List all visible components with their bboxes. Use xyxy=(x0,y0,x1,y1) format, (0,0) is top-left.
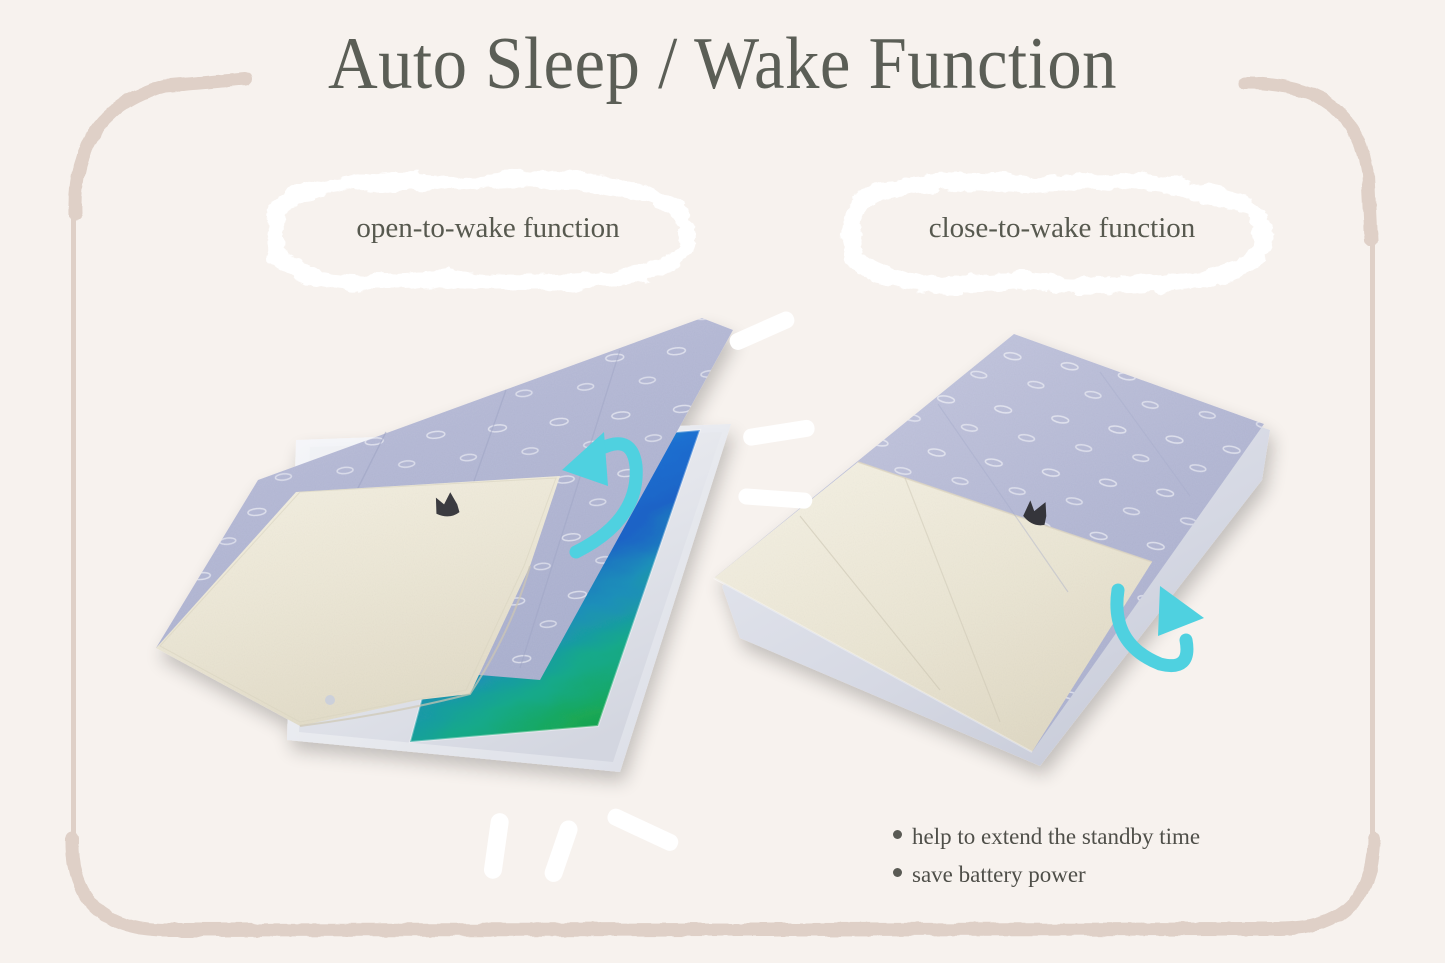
arrow-open-to-wake-icon xyxy=(562,432,636,552)
case-side xyxy=(722,342,1270,766)
arrow-close-to-wake-icon xyxy=(1117,586,1204,666)
benefit-label: help to extend the standby time xyxy=(912,818,1200,856)
home-button xyxy=(325,695,335,705)
cover-face-closed xyxy=(714,334,1264,752)
callout-open-label: open-to-wake function xyxy=(258,208,718,248)
benefit-label: save battery power xyxy=(912,856,1086,894)
callout-open-to-wake: open-to-wake function xyxy=(258,168,718,296)
screen-wallpaper xyxy=(380,410,730,770)
page-title: Auto Sleep / Wake Function xyxy=(51,22,1395,106)
cat-silhouette-icon xyxy=(433,491,459,518)
screen-bezel xyxy=(410,430,700,742)
product-feature-poster: Auto Sleep / Wake Function open-to-wake … xyxy=(0,0,1445,963)
cover-cream-section xyxy=(714,462,1152,752)
tpu-bumper xyxy=(287,424,731,772)
cover-flap-open xyxy=(156,318,733,726)
sparkle-burst-lower-left xyxy=(483,806,681,884)
tablet-body xyxy=(299,432,722,762)
list-item: save battery power xyxy=(893,856,1313,894)
tablet-open xyxy=(156,318,733,772)
callout-close-label: close-to-wake function xyxy=(832,208,1292,248)
cat-silhouette-icon xyxy=(1022,497,1051,527)
callout-close-to-wake: close-to-wake function xyxy=(832,168,1292,296)
bullet-icon xyxy=(893,830,902,839)
bullet-icon xyxy=(893,868,902,877)
benefits-list: help to extend the standby time save bat… xyxy=(893,818,1313,894)
tablet-closed xyxy=(714,334,1270,766)
sparkle-burst-upper-right xyxy=(727,309,816,509)
list-item: help to extend the standby time xyxy=(893,818,1313,856)
